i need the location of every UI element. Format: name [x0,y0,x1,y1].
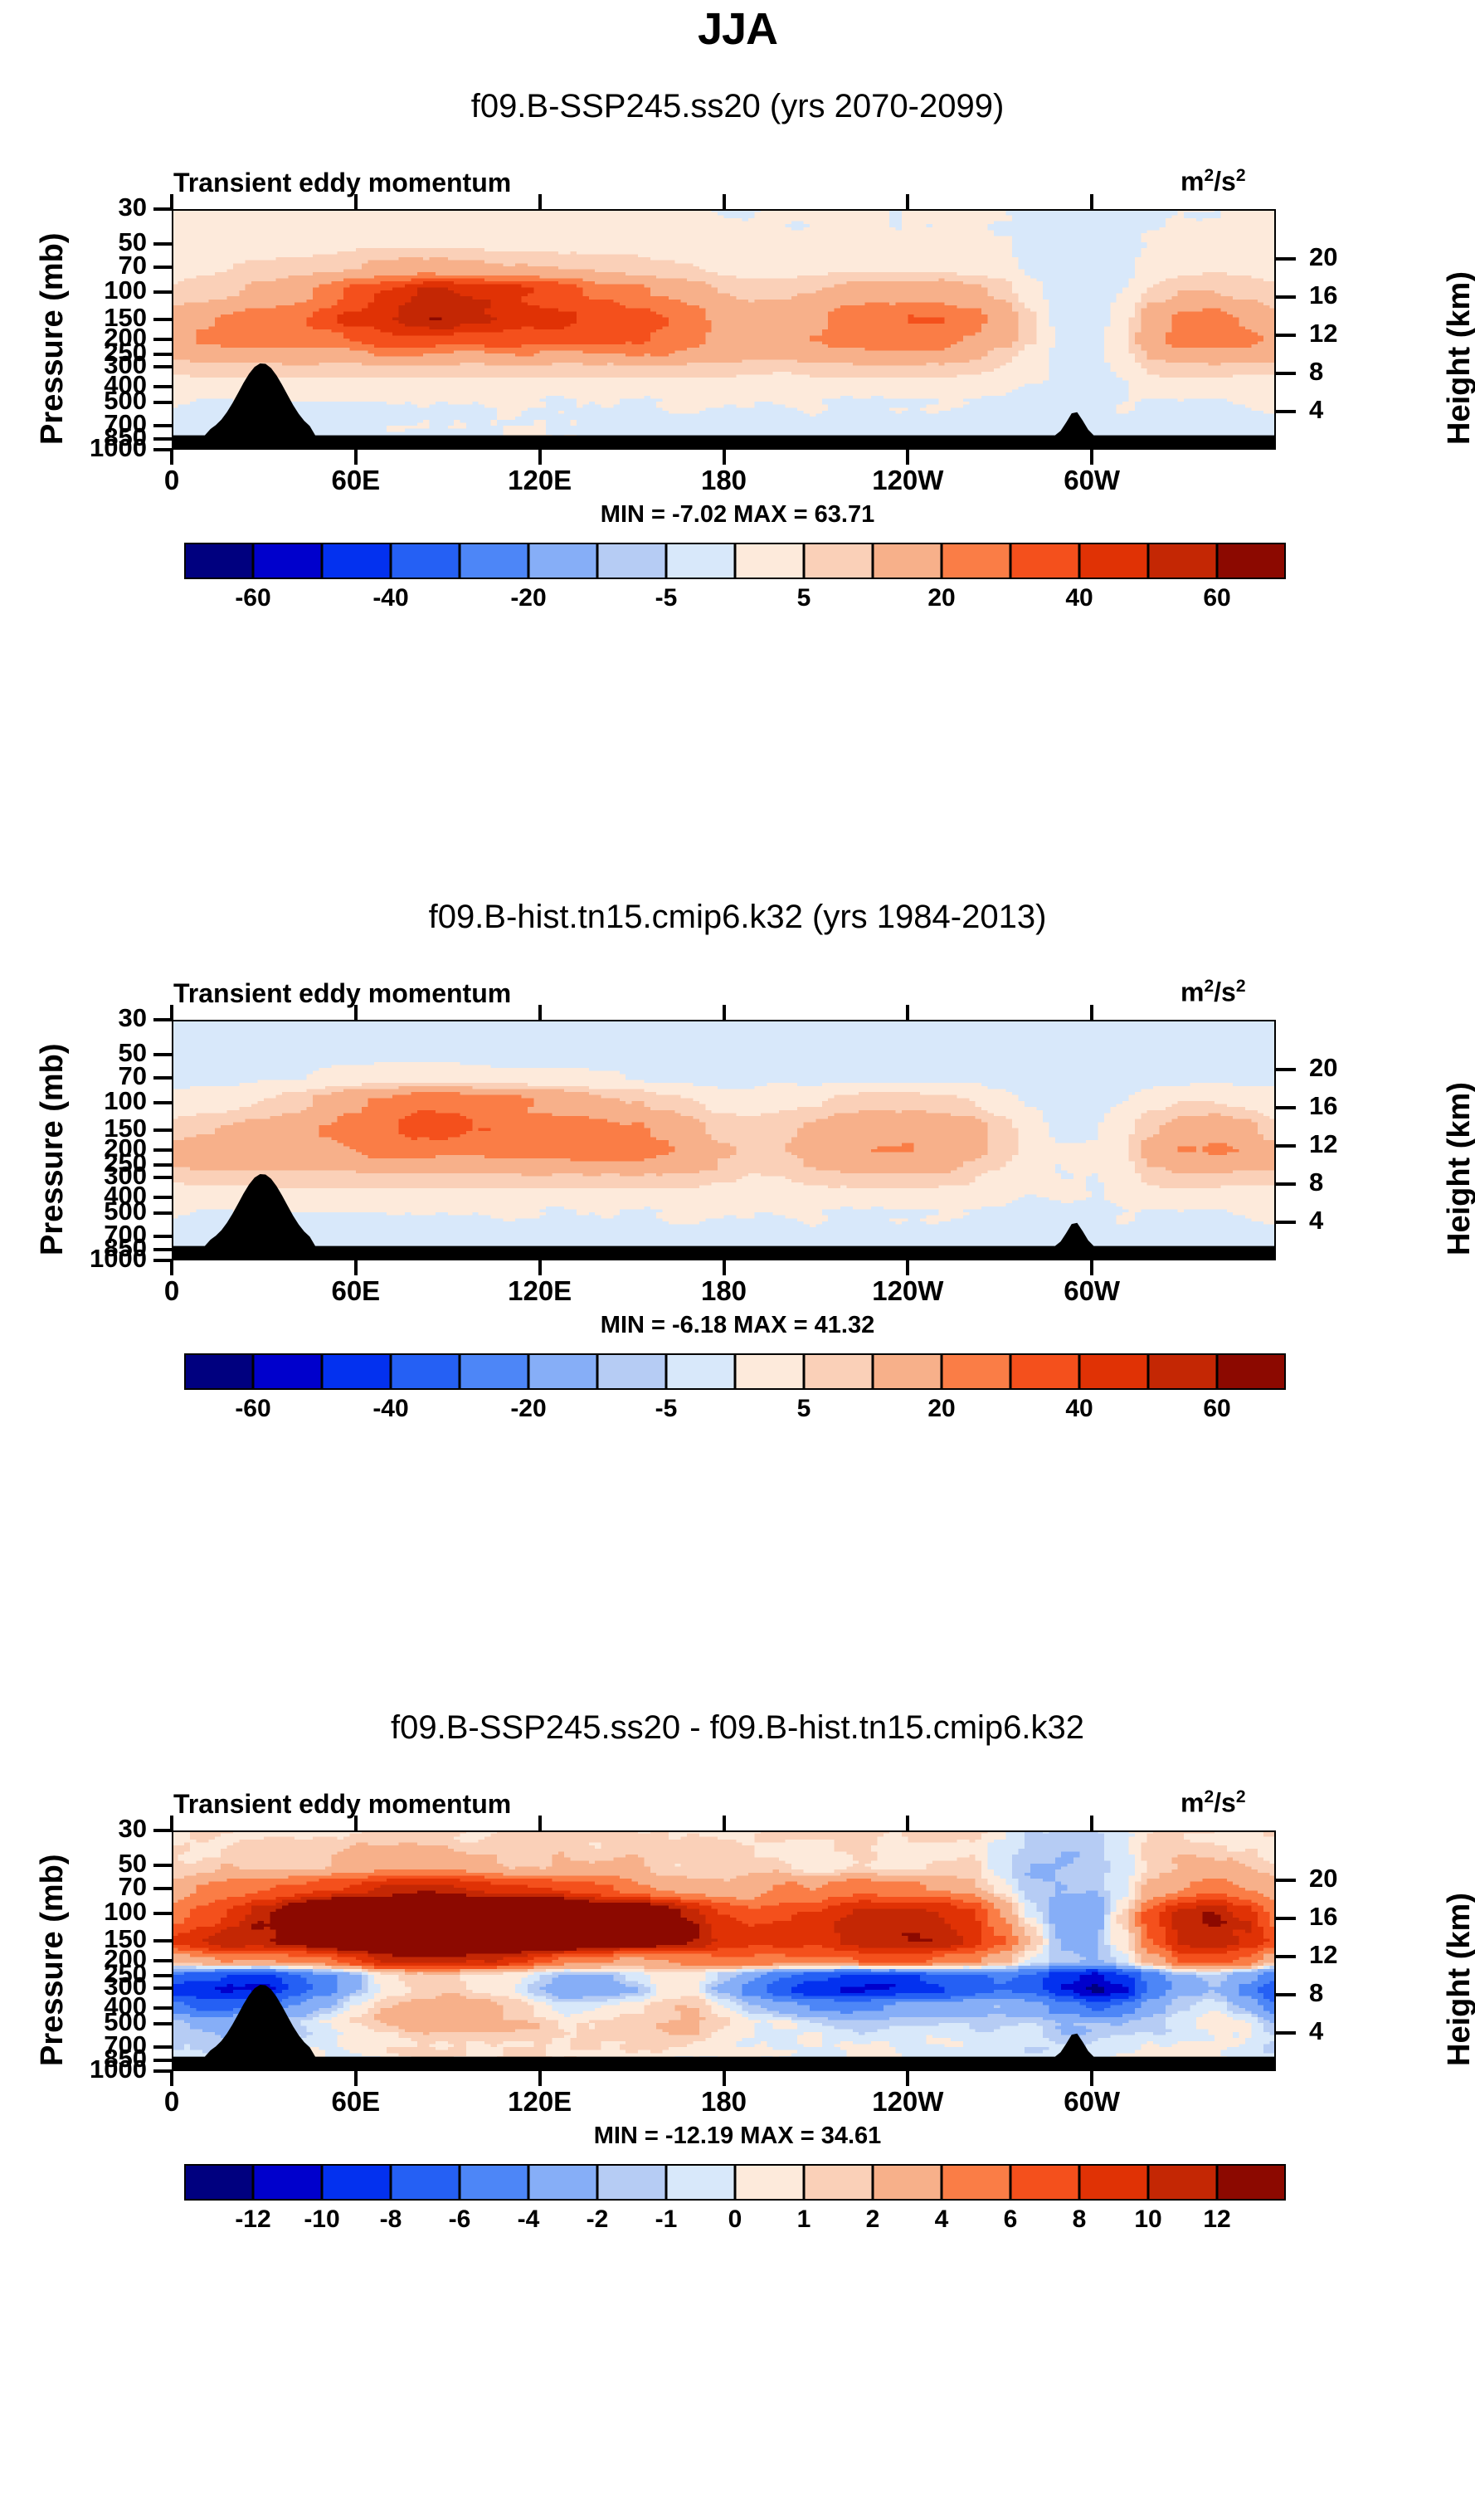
lon-tick-mark-bottom [170,2071,173,2086]
lon-tick: 120E [482,2086,598,2118]
height-tick: 16 [1309,1902,1337,1932]
lon-tick: 0 [114,1275,230,1307]
pressure-tick: 30 [39,193,147,222]
min-max-caption: MIN = -6.18 MAX = 41.32 [0,1312,1475,1339]
pressure-tick-mark [153,266,172,269]
lon-tick: 120E [482,1275,598,1307]
pressure-tick-mark [153,1176,172,1179]
lon-tick-mark-bottom [1090,2071,1093,2086]
lon-tick-mark-top [170,1005,173,1020]
units-label: m2/s2 [1180,1787,1246,1819]
height-tick: 4 [1309,395,1323,425]
pressure-tick-mark [153,1148,172,1152]
lon-tick: 180 [666,465,782,496]
units-label: m2/s2 [1180,166,1246,197]
lon-tick-mark-top [906,194,909,209]
pressure-tick-mark [153,2059,172,2062]
pressure-tick-mark [153,353,172,356]
colorbar-tick-label: 2 [866,2206,880,2234]
lon-tick-mark-bottom [906,2071,909,2086]
colorbar-tick-label: -4 [518,2206,540,2234]
pressure-tick-mark [153,1959,172,1962]
pressure-tick-mark [153,2022,172,2025]
colorbar: -60-40-20-55204060 [184,1353,1286,1390]
lon-tick: 180 [666,2086,782,2118]
pressure-tick-mark [153,448,172,451]
plot-area [172,1830,1276,2071]
lon-tick-mark-top [1090,1816,1093,1830]
lon-tick-mark-bottom [354,2071,358,2086]
lon-tick-mark-top [723,1816,726,1830]
colorbar-tick-label: -2 [587,2206,609,2234]
lon-tick-mark-bottom [906,1260,909,1275]
pressure-tick: 100 [39,1897,147,1927]
colorbar-tick-label: 20 [927,1395,955,1423]
lon-tick: 120W [849,2086,966,2118]
lon-tick-mark-top [538,1816,542,1830]
lon-tick-mark-bottom [1090,450,1093,465]
lon-tick-mark-bottom [354,1260,358,1275]
colorbar-tick-label: -60 [235,584,270,612]
pressure-tick-mark [153,1163,172,1167]
height-tick: 4 [1309,2016,1323,2046]
lon-tick-mark-bottom [354,450,358,465]
field-label: Transient eddy momentum [173,978,511,1009]
height-tick-mark [1276,1068,1296,1071]
lon-tick: 0 [114,465,230,496]
colorbar-tick-label: -40 [372,1395,408,1423]
pressure-tick-mark [153,1128,172,1132]
height-tick-mark [1276,1879,1296,1882]
pressure-tick-mark [153,424,172,427]
height-tick-mark [1276,1955,1296,1958]
pressure-tick-mark [153,385,172,388]
colorbar-tick-label: 6 [1004,2206,1018,2234]
colorbar-tick-label: -12 [235,2206,270,2234]
pressure-tick-mark [153,365,172,368]
height-tick-mark [1276,257,1296,261]
height-tick: 12 [1309,1940,1337,1970]
colorbar-tick-label: 40 [1065,1395,1093,1423]
colorbar-tick-label: -20 [510,584,546,612]
y2-axis-title: Height (km) [1442,1082,1475,1255]
field-label: Transient eddy momentum [173,1789,511,1820]
height-tick: 12 [1309,319,1337,349]
colorbar-tick-label: 20 [927,584,955,612]
pressure-tick: 30 [39,1003,147,1033]
height-tick: 16 [1309,280,1337,310]
height-tick: 8 [1309,357,1323,387]
height-tick: 4 [1309,1206,1323,1236]
pressure-tick-mark [153,1986,172,1990]
height-tick: 16 [1309,1091,1337,1121]
height-tick: 8 [1309,1167,1323,1197]
height-tick: 20 [1309,1864,1337,1894]
lon-tick: 60W [1034,1275,1150,1307]
lon-tick-mark-bottom [170,1260,173,1275]
lon-tick-mark-top [906,1816,909,1830]
lon-tick-mark-top [723,1005,726,1020]
height-tick-mark [1276,372,1296,375]
colorbar-labels: -12-10-8-6-4-2-10124681012 [184,2206,1286,2239]
height-tick: 12 [1309,1129,1337,1159]
colorbar-tick-label: 8 [1073,2206,1087,2234]
pressure-tick-mark [153,242,172,246]
height-tick: 8 [1309,1978,1323,2008]
panel-ssp245: f09.B-SSP245.ss20 (yrs 2070-2099)Transie… [0,88,1475,899]
pressure-tick-mark [153,1887,172,1890]
panel-title: f09.B-hist.tn15.cmip6.k32 (yrs 1984-2013… [0,899,1475,936]
lon-tick-mark-top [538,1005,542,1020]
pressure-tick-mark [153,2069,172,2073]
height-tick: 20 [1309,242,1337,272]
panel-title: f09.B-SSP245.ss20 - f09.B-hist.tn15.cmip… [0,1709,1475,1747]
colorbar: -12-10-8-6-4-2-10124681012 [184,2164,1286,2201]
colorbar-tick-label: 10 [1134,2206,1161,2234]
colorbar-tick-label: -40 [372,584,408,612]
lon-tick-mark-top [723,194,726,209]
height-tick-mark [1276,1144,1296,1148]
min-max-caption: MIN = -12.19 MAX = 34.61 [0,2123,1475,2150]
pressure-tick-mark [153,207,172,211]
pressure-tick-mark [153,2045,172,2049]
colorbar-tick-label: 5 [797,584,811,612]
lon-tick: 180 [666,1275,782,1307]
pressure-tick: 100 [39,275,147,305]
lon-tick-mark-top [354,1005,358,1020]
lon-tick: 120W [849,1275,966,1307]
pressure-tick-mark [153,1974,172,1977]
figure-title: JJA [0,3,1475,55]
height-tick-mark [1276,1917,1296,1920]
lon-tick: 60W [1034,465,1150,496]
colorbar: -60-40-20-55204060 [184,543,1286,579]
height-tick-mark [1276,1106,1296,1109]
colorbar-tick-label: -60 [235,1395,270,1423]
lon-tick: 0 [114,2086,230,2118]
panel-diff: f09.B-SSP245.ss20 - f09.B-hist.tn15.cmip… [0,1709,1475,2520]
height-tick: 20 [1309,1053,1337,1083]
pressure-tick-mark [153,1939,172,1942]
pressure-tick-mark [153,401,172,404]
lon-tick-mark-top [354,194,358,209]
pressure-tick-mark [153,1235,172,1238]
lon-tick-mark-top [170,1816,173,1830]
height-tick-mark [1276,2031,1296,2035]
pressure-tick-mark [153,1829,172,1832]
pressure-tick-mark [153,1101,172,1104]
lon-tick-mark-top [906,1005,909,1020]
pressure-tick-mark [153,1259,172,1262]
lon-tick: 60E [298,1275,414,1307]
lon-tick-mark-bottom [538,1260,542,1275]
pressure-tick-mark [153,1196,172,1199]
colorbar-labels: -60-40-20-55204060 [184,584,1286,617]
height-tick-mark [1276,295,1296,299]
pressure-tick-mark [153,1076,172,1080]
pressure-tick-mark [153,1018,172,1021]
pressure-tick-mark [153,338,172,341]
lon-tick-mark-bottom [723,2071,726,2086]
pressure-tick-mark [153,437,172,441]
lon-tick-mark-top [1090,194,1093,209]
lon-tick-mark-bottom [723,450,726,465]
colorbar-tick-label: 0 [728,2206,742,2234]
colorbar-tick-label: 1 [797,2206,811,2234]
panel-hist: f09.B-hist.tn15.cmip6.k32 (yrs 1984-2013… [0,899,1475,1709]
colorbar-tick-label: 60 [1203,584,1230,612]
height-tick-mark [1276,1993,1296,1996]
colorbar-tick-label: 40 [1065,584,1093,612]
lon-tick-mark-bottom [538,450,542,465]
lon-tick-mark-bottom [723,1260,726,1275]
pressure-tick-mark [153,290,172,294]
pressure-tick-mark [153,2006,172,2010]
panel-title: f09.B-SSP245.ss20 (yrs 2070-2099) [0,88,1475,125]
y2-axis-title: Height (km) [1442,271,1475,445]
colorbar-tick-label: -5 [655,584,678,612]
colorbar-tick-label: -10 [304,2206,339,2234]
lon-tick-mark-top [354,1816,358,1830]
height-tick-mark [1276,334,1296,337]
pressure-tick-mark [153,1864,172,1867]
pressure-tick: 100 [39,1086,147,1116]
plot-area [172,209,1276,450]
pressure-tick-mark [153,1248,172,1251]
colorbar-tick-label: 4 [935,2206,949,2234]
colorbar-tick-label: -1 [655,2206,678,2234]
lon-tick-mark-bottom [906,450,909,465]
units-label: m2/s2 [1180,977,1246,1008]
lon-tick-mark-bottom [1090,1260,1093,1275]
lon-tick: 120E [482,465,598,496]
pressure-tick: 1000 [39,1244,147,1274]
colorbar-tick-label: -6 [449,2206,471,2234]
colorbar-tick-label: -5 [655,1395,678,1423]
y2-axis-title: Height (km) [1442,1893,1475,2066]
plot-area [172,1020,1276,1260]
colorbar-tick-label: 5 [797,1395,811,1423]
colorbar-tick-label: -8 [380,2206,402,2234]
lon-tick: 60E [298,2086,414,2118]
height-tick-mark [1276,410,1296,413]
lon-tick: 60W [1034,2086,1150,2118]
lon-tick-mark-bottom [170,450,173,465]
pressure-tick: 1000 [39,433,147,463]
lon-tick: 120W [849,465,966,496]
field-label: Transient eddy momentum [173,168,511,198]
height-tick-mark [1276,1221,1296,1224]
pressure-tick-mark [153,1912,172,1915]
colorbar-tick-label: -20 [510,1395,546,1423]
pressure-tick-mark [153,1211,172,1215]
lon-tick-mark-bottom [538,2071,542,2086]
lon-tick-mark-top [170,194,173,209]
pressure-tick: 30 [39,1814,147,1844]
colorbar-tick-label: 12 [1203,2206,1230,2234]
pressure-tick: 1000 [39,2055,147,2084]
lon-tick-mark-top [1090,1005,1093,1020]
lon-tick-mark-top [538,194,542,209]
pressure-tick-mark [153,318,172,321]
colorbar-tick-label: 60 [1203,1395,1230,1423]
min-max-caption: MIN = -7.02 MAX = 63.71 [0,501,1475,529]
colorbar-labels: -60-40-20-55204060 [184,1395,1286,1428]
lon-tick: 60E [298,465,414,496]
height-tick-mark [1276,1182,1296,1186]
pressure-tick-mark [153,1053,172,1056]
